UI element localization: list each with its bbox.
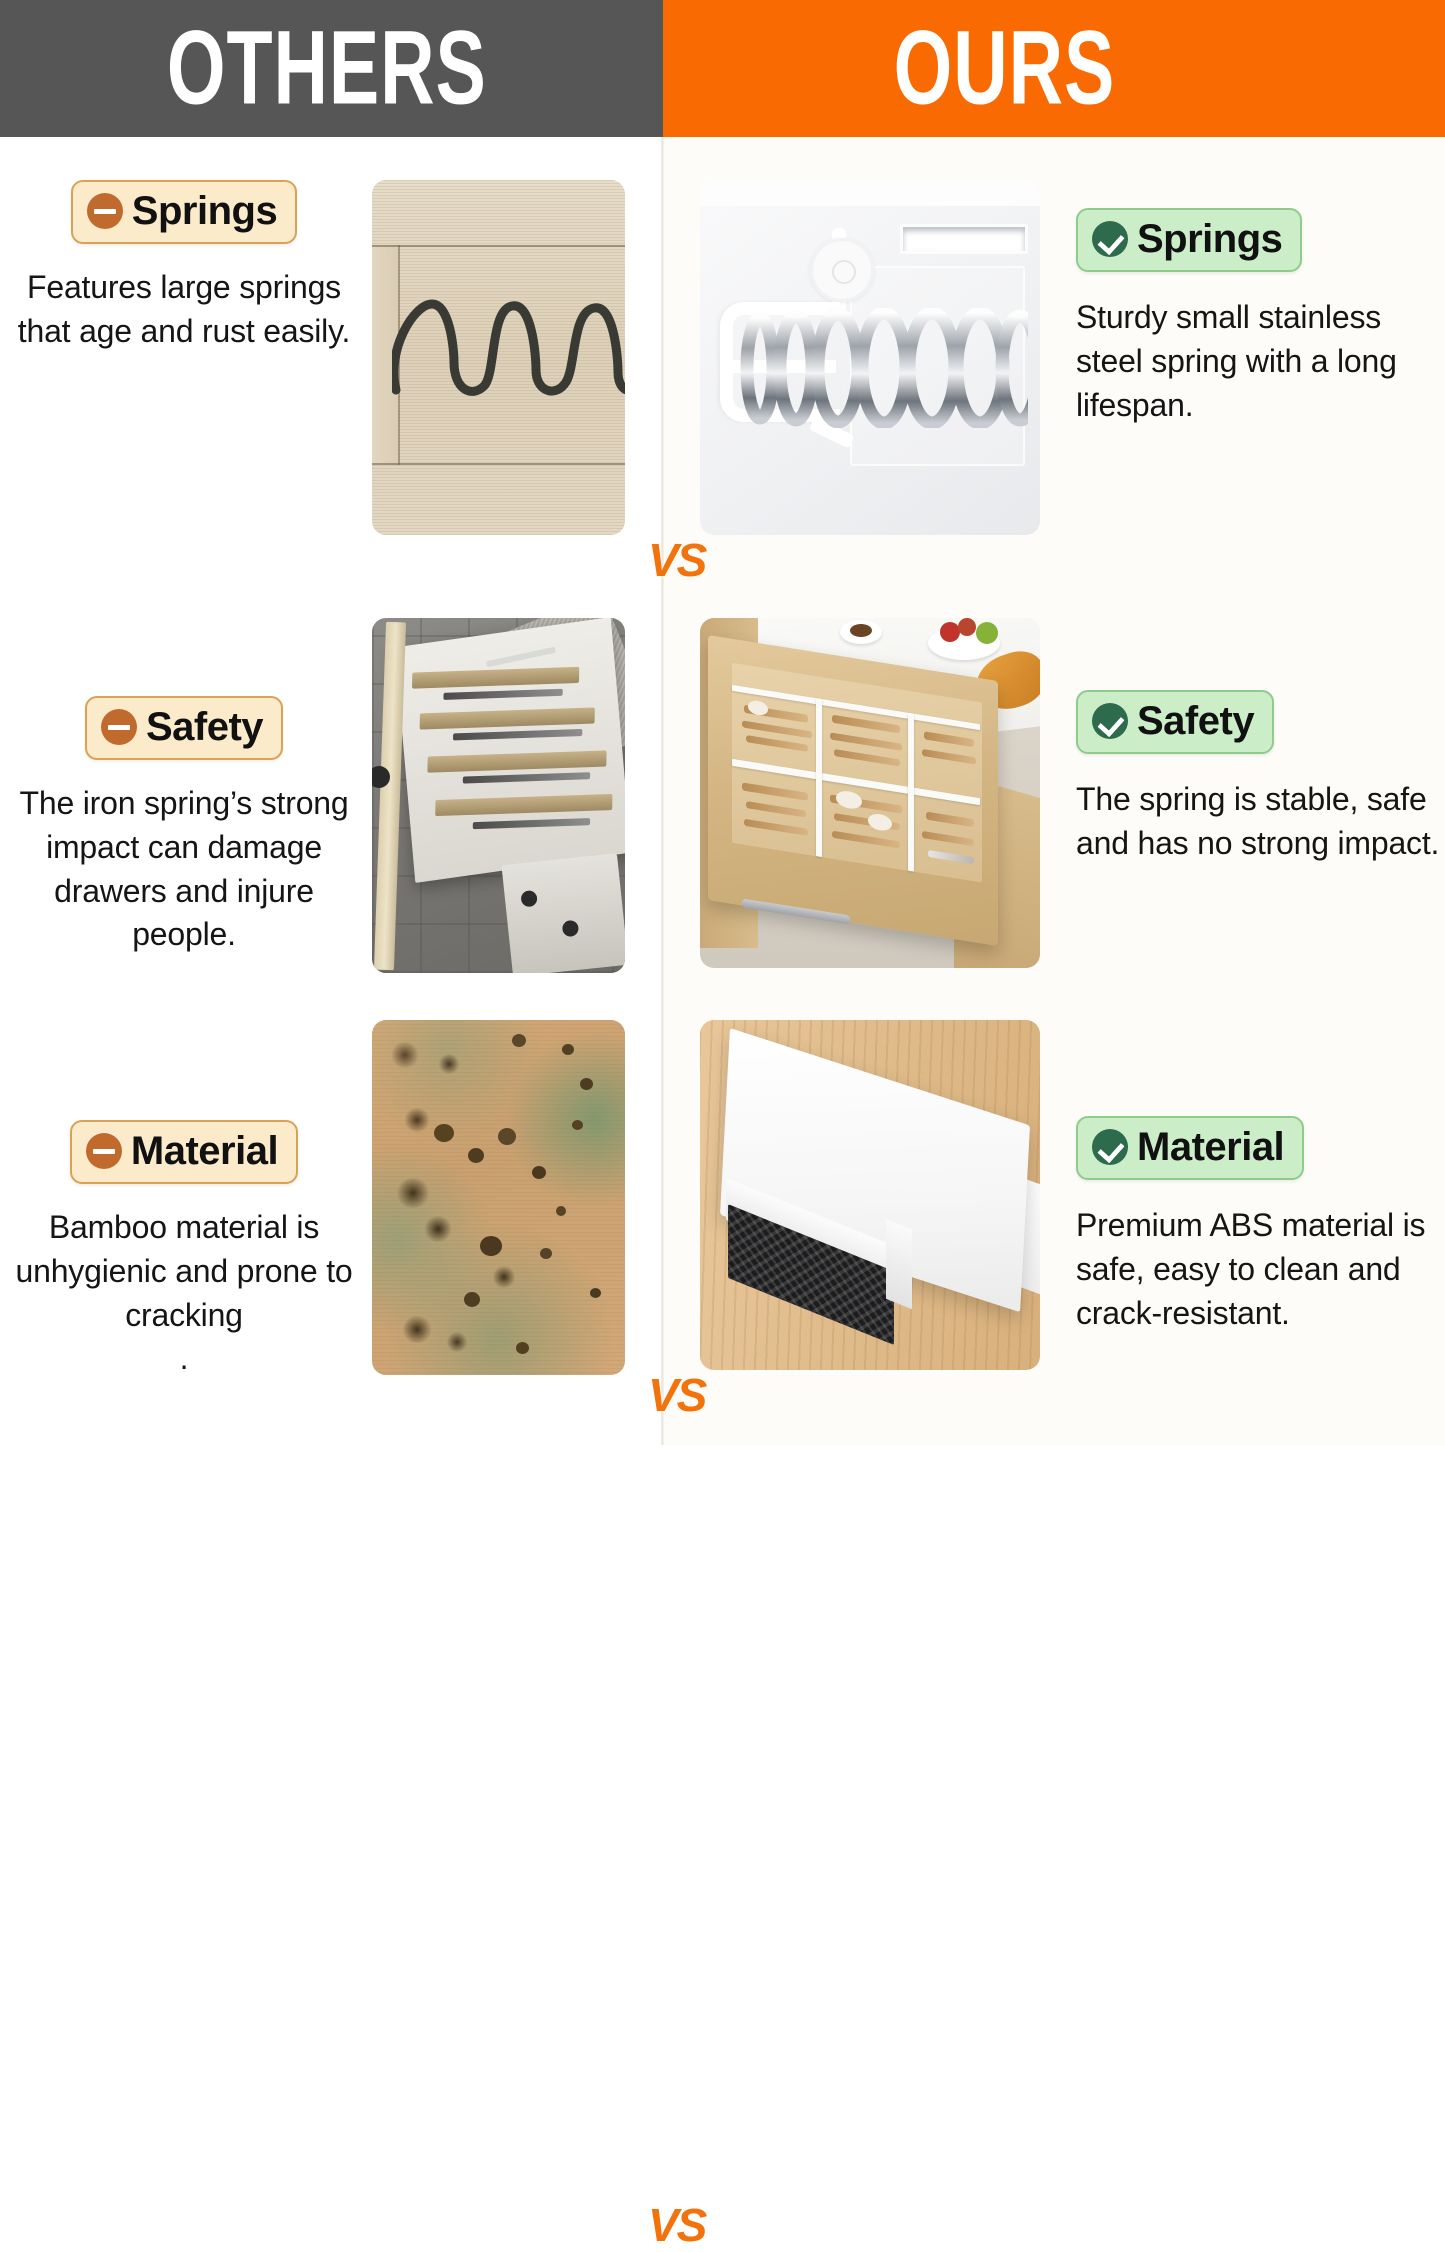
springs-others-description: Features large springs that age and rust…	[14, 266, 354, 354]
bamboo-spring-artwork	[372, 180, 625, 535]
springs-ours-text-block: Springs Sturdy small stainless steel spr…	[1062, 208, 1445, 427]
header-others-panel: OTHERS	[0, 0, 663, 137]
minus-circle-icon	[86, 1133, 122, 1169]
badge-others-material: Material	[70, 1120, 298, 1184]
comparison-row-material: Material Bamboo material is unhygienic a…	[0, 1010, 1445, 1400]
springs-others-image	[372, 180, 625, 535]
organised-drawer-artwork	[700, 618, 1040, 968]
safety-ours-image	[700, 618, 1040, 968]
zigzag-spring-shape	[392, 290, 625, 420]
minus-circle-icon	[87, 193, 123, 229]
material-others-description: Bamboo material is unhygienic and prone …	[14, 1206, 354, 1381]
material-others-text-block: Material Bamboo material is unhygienic a…	[0, 1120, 354, 1381]
safety-others-text-block: Safety The iron spring’s strong impact c…	[0, 696, 354, 957]
material-ours-text-block: Material Premium ABS material is safe, e…	[1062, 1116, 1445, 1335]
safety-others-description: The iron spring’s strong impact can dama…	[14, 782, 354, 957]
comparison-header: OTHERS OURS	[0, 0, 1445, 137]
safety-ours-description: The spring is stable, safe and has no st…	[1076, 778, 1445, 866]
vs-divider-label-2: VS	[648, 1368, 705, 1422]
vs-divider-label-3: VS	[648, 2198, 705, 2252]
springs-ours-image	[700, 180, 1040, 535]
coil-spring-shape	[738, 308, 1028, 428]
white-mechanism-artwork	[700, 180, 1040, 535]
badge-ours-springs-label: Springs	[1137, 219, 1282, 259]
badge-others-springs: Springs	[71, 180, 297, 244]
badge-ours-safety: Safety	[1076, 690, 1274, 754]
header-ours-title: OURS	[893, 16, 1115, 121]
springs-ours-description: Sturdy small stainless steel spring with…	[1076, 296, 1445, 427]
springs-others-text-block: Springs Features large springs that age …	[0, 180, 354, 354]
badge-others-safety-label: Safety	[146, 707, 263, 747]
header-ours-panel: OURS	[663, 0, 1445, 137]
check-circle-icon	[1092, 221, 1128, 257]
comparison-row-springs: Springs Features large springs that age …	[0, 180, 1445, 570]
badge-others-material-label: Material	[131, 1131, 278, 1171]
safety-ours-text-block: Safety The spring is stable, safe and ha…	[1062, 690, 1445, 866]
mouldy-bamboo-artwork	[372, 1020, 625, 1375]
badge-ours-springs: Springs	[1076, 208, 1302, 272]
material-ours-description: Premium ABS material is safe, easy to cl…	[1076, 1204, 1445, 1335]
minus-circle-icon	[101, 709, 137, 745]
safety-others-image	[372, 618, 625, 973]
check-circle-icon	[1092, 1129, 1128, 1165]
check-circle-icon	[1092, 703, 1128, 739]
badge-others-springs-label: Springs	[132, 191, 277, 231]
header-others-title: OTHERS	[167, 16, 487, 121]
material-others-image	[372, 1020, 625, 1375]
badge-ours-material-label: Material	[1137, 1127, 1284, 1167]
abs-divider-artwork	[700, 1020, 1040, 1370]
fallen-drawer-artwork	[372, 618, 625, 973]
badge-ours-material: Material	[1076, 1116, 1304, 1180]
badge-others-safety: Safety	[85, 696, 283, 760]
material-ours-image	[700, 1020, 1040, 1370]
badge-ours-safety-label: Safety	[1137, 701, 1254, 741]
vs-divider-label-1: VS	[648, 533, 705, 587]
comparison-row-safety: Safety The iron spring’s strong impact c…	[0, 600, 1445, 990]
